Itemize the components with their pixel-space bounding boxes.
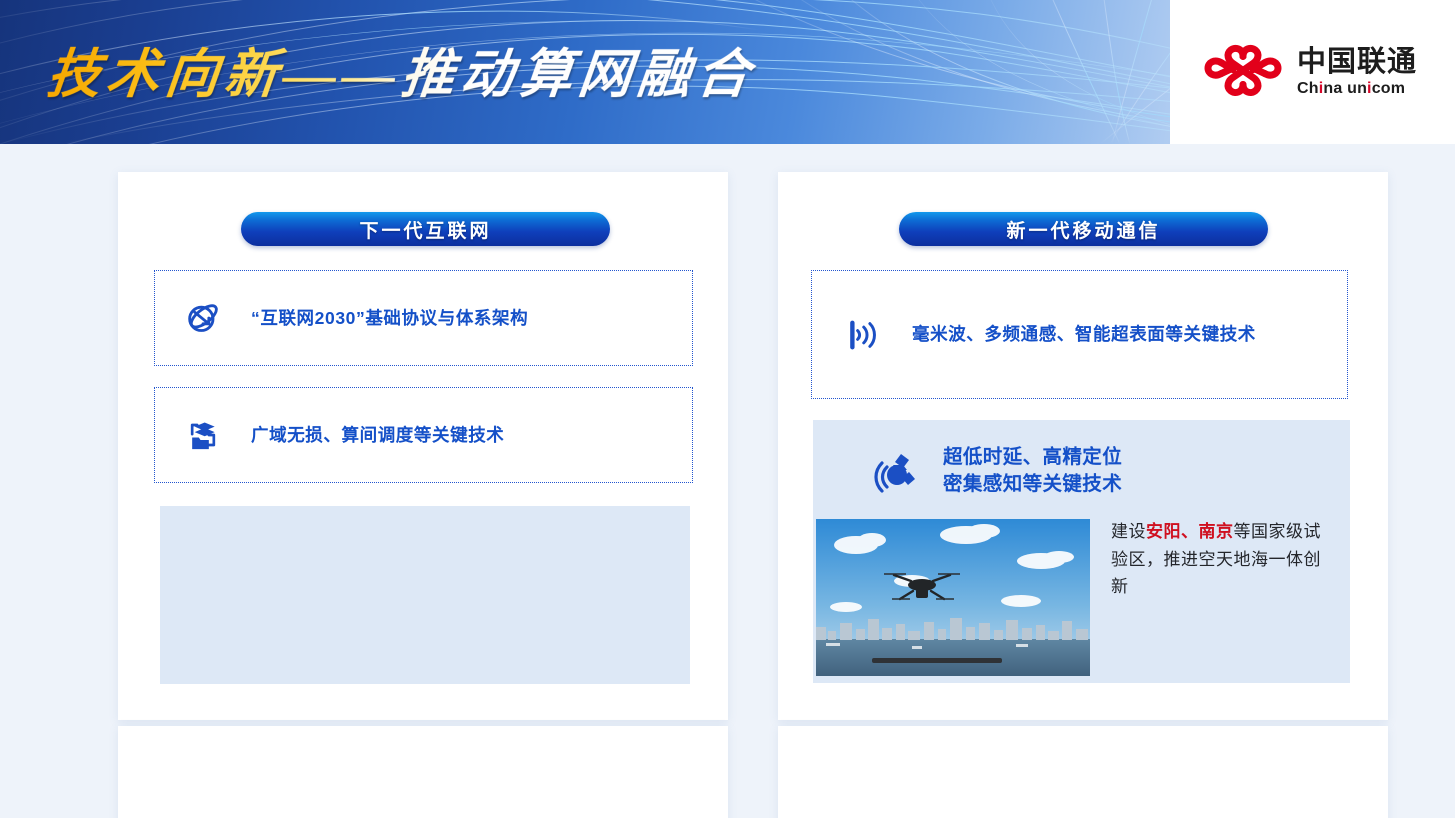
brand-logo: 中国联通 China unicom [1203,44,1417,100]
right-card-body: 建设安阳、南京等国家级试验区，推进空天地海一体创新 [1111,518,1321,601]
china-unicom-knot-icon [1203,44,1283,100]
left-feature-row-1-label: “互联网2030”基础协议与体系架构 [251,306,528,330]
right-feature-row-1[interactable]: 毫米波、多频通感、智能超表面等关键技术 [811,270,1348,399]
left-showcase-card: 三江源国家大数据基地 [160,506,690,684]
panel-secondary-left [118,726,728,818]
panel-next-generation-internet: 下一代互联网 “互联网2030”基础协议与体系架构 [118,172,728,720]
logo-wordmark: 中国联通 China unicom [1297,48,1417,97]
globe-network-icon [155,298,251,338]
right-card-heading: 超低时延、高精定位 密集感知等关键技术 [943,444,1223,497]
right-card-heading-line2: 密集感知等关键技术 [943,471,1223,498]
left-feature-row-1[interactable]: “互联网2030”基础协议与体系架构 [154,270,693,366]
left-feature-row-2-label: 广域无损、算间调度等关键技术 [251,423,504,447]
right-feature-row-1-label: 毫米波、多频通感、智能超表面等关键技术 [912,322,1256,346]
left-feature-row-2[interactable]: 广域无损、算间调度等关键技术 [154,387,693,483]
panel-secondary-right [778,726,1388,818]
logo-chinese-name: 中国联通 [1297,48,1417,77]
logo-english-name: China unicom [1297,81,1417,97]
panel-next-generation-mobile: 新一代移动通信 毫米波、多频通感、智能超表面等关键技术 [778,172,1388,720]
signal-wave-icon [812,314,912,356]
drone-city-skyline-photo [816,519,1090,676]
page-title: 技术向新——推动算网融合 [44,32,760,108]
right-card-heading-line1: 超低时延、高精定位 [943,444,1223,471]
data-transfer-icon [155,415,251,455]
right-card-body-red1: 安阳、南京 [1146,522,1234,541]
slide-body: 下一代互联网 “互联网2030”基础协议与体系架构 [0,144,1455,818]
left-panel-title: 下一代互联网 [241,212,610,246]
right-showcase-card: 超低时延、高精定位 密集感知等关键技术 [813,420,1350,683]
right-card-body-seg3: 等国家 [1234,522,1287,541]
page-header: 技术向新——推动算网融合 中国联通 China unicom [0,0,1455,144]
right-card-body-seg1: 建设 [1111,522,1146,541]
right-panel-title: 新一代移动通信 [899,212,1268,246]
satellite-icon [865,442,925,502]
